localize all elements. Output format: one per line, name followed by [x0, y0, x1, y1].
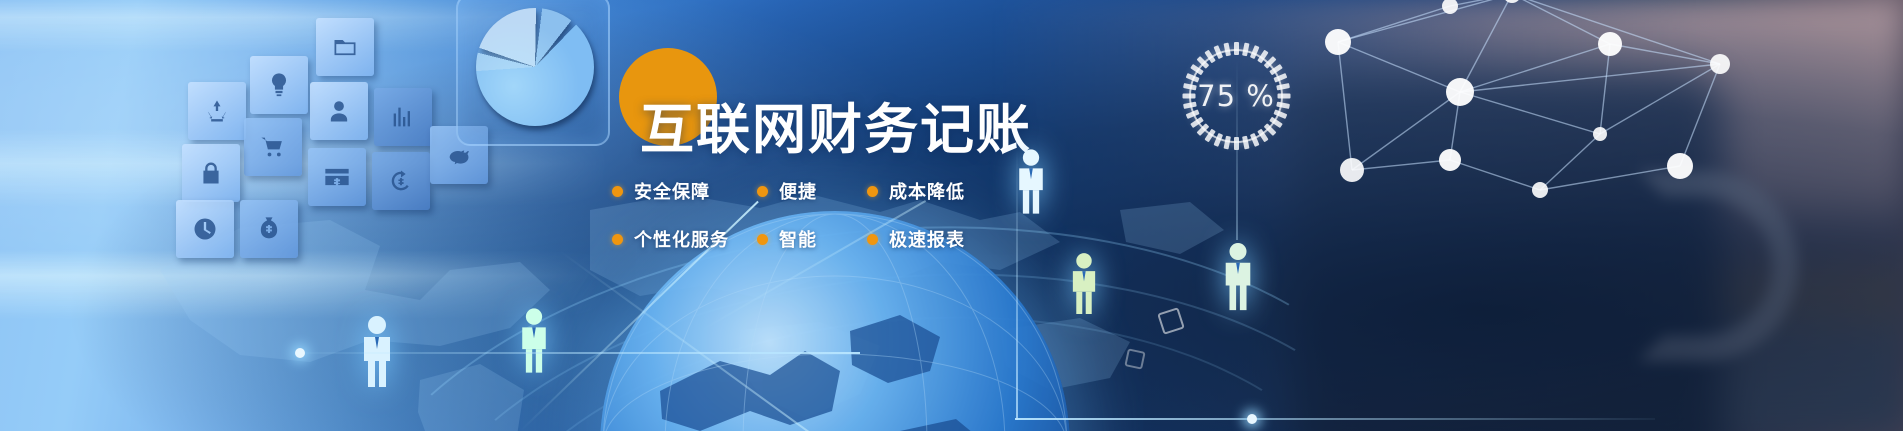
bullet-dot-icon: [867, 234, 878, 245]
icon-cube-cluster: [168, 10, 488, 255]
feature-label: 个性化服务: [634, 226, 729, 252]
bullet-dot-icon: [867, 186, 878, 197]
lock-icon: [182, 144, 240, 202]
feature-label: 极速报表: [889, 226, 965, 252]
feature-list: 安全保障 便捷 成本降低 个性化服务 智能 极速报表: [612, 178, 965, 252]
person-icon: [515, 307, 553, 375]
money-bag-icon: [240, 200, 298, 258]
bullet-dot-icon: [757, 186, 768, 197]
refresh-dollar-icon: [372, 152, 430, 210]
feature-item: 个性化服务: [612, 226, 757, 252]
bullet-dot-icon: [612, 234, 623, 245]
clock-icon: [176, 200, 234, 258]
network-nodes: [1300, 0, 1900, 204]
marketing-banner: 互联网财务记账 安全保障 便捷 成本降低 个性化服务 智能 极速报表: [0, 0, 1903, 431]
feature-label: 便捷: [779, 178, 817, 204]
rail-endpoint-icon: [1247, 414, 1257, 424]
vertical-rail: [1236, 60, 1238, 240]
person-silhouette: [1218, 242, 1258, 312]
feature-item: 极速报表: [867, 226, 965, 252]
lightbulb-icon: [250, 56, 308, 114]
feature-item: 智能: [757, 226, 867, 252]
person-icon: [1066, 252, 1102, 316]
feature-item: 安全保障: [612, 178, 757, 204]
credit-card-dollar-icon: [308, 148, 366, 206]
pie-chart-panel: [456, 0, 610, 146]
person-silhouette: [1066, 252, 1102, 316]
pie-chart: [476, 8, 594, 126]
rail-endpoint-icon: [295, 348, 305, 358]
person-silhouette: [515, 307, 553, 375]
bullet-dot-icon: [612, 186, 623, 197]
feature-item: 便捷: [757, 178, 867, 204]
person-icon: [1218, 242, 1258, 312]
bullet-dot-icon: [757, 234, 768, 245]
user-icon: [310, 82, 368, 140]
glow-rail: [1015, 418, 1655, 420]
decor-square: [1124, 348, 1145, 369]
feature-item: 成本降低: [867, 178, 965, 204]
feature-label: 智能: [779, 226, 817, 252]
feature-label: 安全保障: [634, 178, 710, 204]
folder-icon: [316, 18, 374, 76]
vertical-rail: [1016, 150, 1018, 420]
bar-chart-icon: [374, 88, 432, 146]
page-title: 互联网财务记账: [640, 103, 1032, 157]
recycle-icon: [188, 82, 246, 140]
glow-rail: [300, 352, 860, 354]
shopping-cart-icon: [244, 118, 302, 176]
feature-label: 成本降低: [889, 178, 965, 204]
